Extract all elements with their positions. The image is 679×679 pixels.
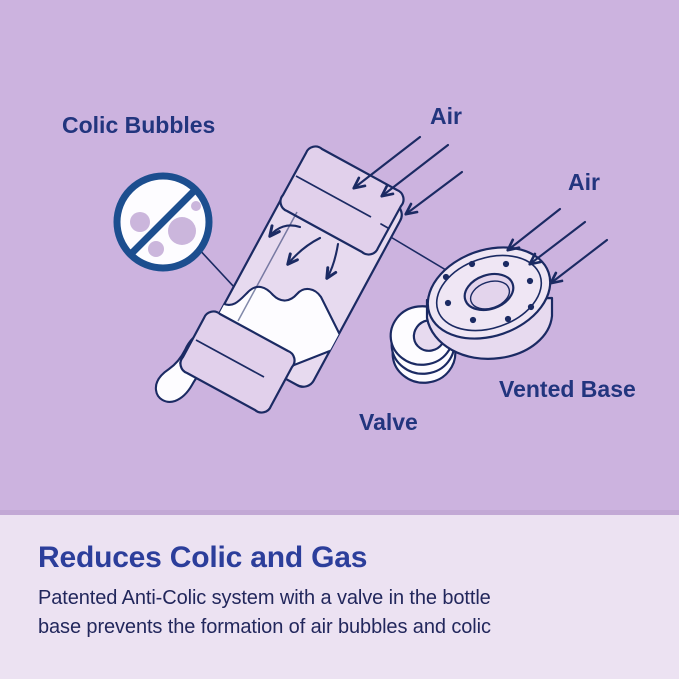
vent-hole-6 <box>528 304 534 310</box>
air-arrow-right-2 <box>530 222 585 264</box>
bubble-2 <box>168 217 196 245</box>
infographic-card: Colic Bubbles Air Air Vented Base Valve … <box>0 0 679 679</box>
bubble-1 <box>130 212 150 232</box>
air-arrow-top-1 <box>354 137 420 188</box>
air-arrow-right-3 <box>551 240 607 283</box>
label-vented-base: Vented Base <box>499 376 636 402</box>
label-air-right: Air <box>568 169 600 195</box>
anti-colic-bottle-diagram: Colic Bubbles Air Air Vented Base Valve <box>0 0 679 513</box>
label-colic-bubbles: Colic Bubbles <box>62 112 215 138</box>
caption-body-line-1: Patented Anti-Colic system with a valve … <box>38 584 641 613</box>
vent-hole-7 <box>470 317 476 323</box>
air-arrow-top-3 <box>406 172 462 214</box>
air-arrow-top-2 <box>382 145 448 196</box>
vented-base-disc <box>415 232 562 359</box>
caption-panel: Reduces Colic and Gas Patented Anti-Coli… <box>0 515 679 679</box>
label-air-top: Air <box>430 103 462 129</box>
illustration-panel: Colic Bubbles Air Air Vented Base Valve <box>0 0 679 513</box>
label-valve: Valve <box>359 409 418 435</box>
vent-hole-8 <box>505 316 511 322</box>
vent-hole-1 <box>469 261 475 267</box>
caption-heading: Reduces Colic and Gas <box>38 541 641 575</box>
air-arrow-right-1 <box>508 209 560 250</box>
caption-body-line-2: base prevents the formation of air bubbl… <box>38 613 641 642</box>
bubble-3 <box>148 241 164 257</box>
bubble-4 <box>191 201 201 211</box>
vent-hole-3 <box>443 274 449 280</box>
vent-hole-4 <box>527 278 533 284</box>
vent-hole-2 <box>503 261 509 267</box>
vent-hole-5 <box>445 300 451 306</box>
no-colic-bubbles-badge <box>113 176 214 272</box>
badge-bubble-contents <box>113 196 214 272</box>
